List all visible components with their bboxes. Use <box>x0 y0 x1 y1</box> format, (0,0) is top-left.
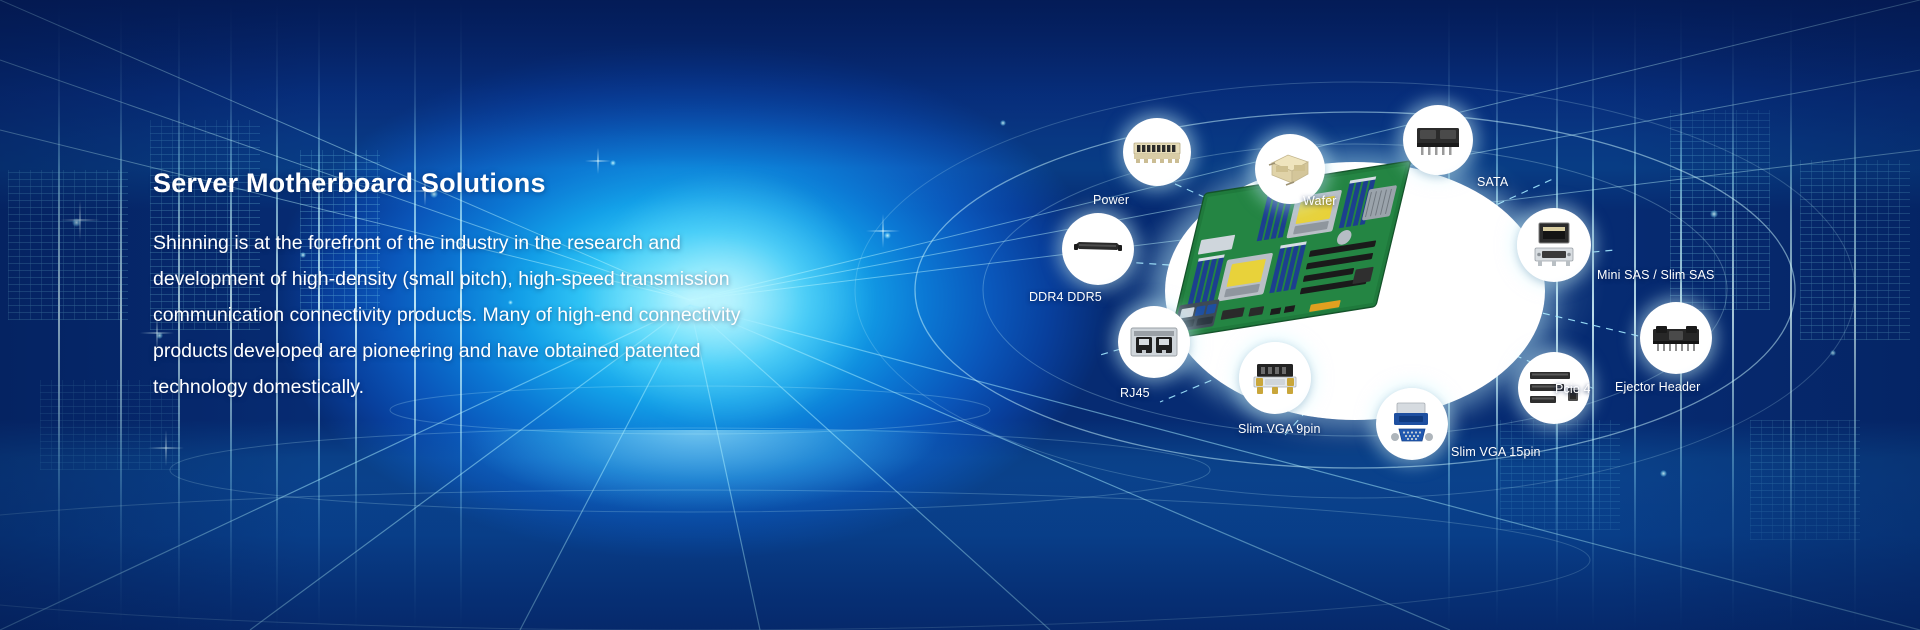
node-label-mini-sas: Mini SAS / Slim SAS <box>1597 268 1714 282</box>
ejector-header-icon <box>1650 323 1702 353</box>
product-constellation-diagram: Power Wafer <box>855 90 1920 490</box>
hero-copy: Server Motherboard Solutions Shinning is… <box>153 168 793 405</box>
hero-description: Shinning is at the forefront of the indu… <box>153 225 773 405</box>
node-label-power: Power <box>1093 193 1129 207</box>
sata-connector-icon <box>1413 123 1463 157</box>
rj45-jack-icon <box>1128 324 1180 360</box>
vga-15pin-icon <box>1387 399 1437 449</box>
node-ddr[interactable] <box>1062 213 1134 285</box>
hero-banner: Server Motherboard Solutions Shinning is… <box>0 0 1920 630</box>
node-sata[interactable] <box>1403 105 1473 175</box>
page-title: Server Motherboard Solutions <box>153 168 793 199</box>
node-label-slim-vga-15pin: Slim VGA 15pin <box>1451 445 1541 459</box>
node-label-ddr: DDR4 DDR5 <box>1029 290 1102 304</box>
power-connector-icon <box>1132 139 1182 165</box>
node-label-pcie-4: Pcie 4 <box>1555 382 1591 396</box>
vga-9pin-icon <box>1249 360 1301 396</box>
node-label-slim-vga-9pin: Slim VGA 9pin <box>1238 422 1321 436</box>
node-ejector-header[interactable] <box>1640 302 1712 374</box>
motherboard-hub <box>1165 162 1545 420</box>
node-label-sata: SATA <box>1477 175 1508 189</box>
node-label-wafer: Wafer <box>1303 194 1337 208</box>
node-slim-vga-15pin[interactable] <box>1376 388 1448 460</box>
node-slim-vga-9pin[interactable] <box>1239 342 1311 414</box>
node-rj45[interactable] <box>1118 306 1190 378</box>
node-mini-sas[interactable] <box>1517 208 1591 282</box>
wafer-connector-icon <box>1266 149 1314 189</box>
mini-sas-connector-icon <box>1529 220 1579 270</box>
node-label-rj45: RJ45 <box>1120 386 1150 400</box>
dimm-slot-icon <box>1072 239 1124 259</box>
node-power[interactable] <box>1123 118 1191 186</box>
node-label-ejector-header: Ejector Header <box>1615 380 1700 394</box>
